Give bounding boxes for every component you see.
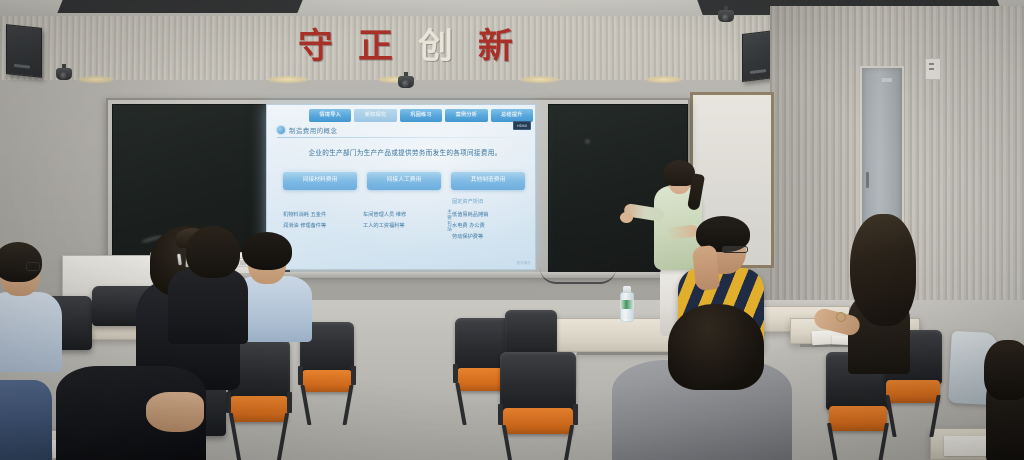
- downlight-5: [646, 76, 682, 83]
- teacher-hair: [664, 160, 695, 186]
- detail-3-line-1: 低值易耗品摊销: [452, 210, 529, 221]
- motto-char-4: 新: [478, 29, 513, 64]
- student-long-hair-right-hair: [850, 214, 916, 326]
- ptz-camera-left: [56, 64, 72, 84]
- bullet-icon: [277, 126, 285, 134]
- classroom-scene: 守 正 创 新: [0, 0, 1024, 460]
- hdmi-cable: [540, 268, 616, 284]
- detail-2-line-2: 工人的工资福利等: [363, 221, 437, 232]
- detail-2-line-1: 车间管理人员 维修: [363, 210, 437, 221]
- slide-body-text: 企业的生产部门为生产产品或提供劳务而发生的各项间接费用。: [289, 147, 521, 157]
- projected-slide: 情境导入 新知探究 巩固练习 案例分析 总结提升 HDMI 制造费用的概念 企业…: [266, 104, 536, 270]
- student-dark-top-back-torso: [168, 268, 248, 344]
- slide-heading-text: 制造费用的概念: [289, 125, 337, 135]
- wall-speaker-left: [6, 24, 42, 78]
- ptz-camera-right: [718, 6, 734, 26]
- slide-category-boxes: 间接材料费用 间接人工费用 其他制造费用: [283, 171, 525, 191]
- glasses-icon: [722, 246, 748, 253]
- slide-tab-1[interactable]: 情境导入: [309, 109, 351, 122]
- slide-watermark: 教学课件: [517, 261, 531, 266]
- glasses-icon-left: [26, 262, 40, 271]
- detail-3-title: 固定资产折旧: [452, 197, 529, 208]
- motto-char-2: 正: [358, 29, 393, 64]
- detail-column-1: . 机物料消耗 五金件 润滑油 修理备件等: [283, 197, 357, 261]
- downlight-2: [268, 76, 308, 83]
- downlight-1: [78, 76, 114, 83]
- wall-motto: 守 正 创 新: [298, 24, 513, 68]
- downlight-4: [520, 76, 560, 83]
- detail-1-line-1: 机物料消耗 五金件: [283, 210, 357, 221]
- detail-3-line-2: 水电费 办公费: [452, 221, 529, 232]
- hdmi-osd-badge: HDMI: [513, 121, 531, 130]
- detail-column-2: . 车间管理人员 维修 工人的工资福利等: [363, 197, 437, 261]
- category-box-2: 间接人工费用: [367, 171, 441, 190]
- slide-tab-4[interactable]: 案例分析: [445, 109, 487, 122]
- category-box-1: 间接材料费用: [283, 171, 357, 190]
- slide-detail-columns: . 机物料消耗 五金件 润滑油 修理备件等 . 车间管理人员 维修 工人的工资福…: [283, 197, 529, 261]
- motto-char-3: 创: [418, 29, 453, 64]
- student-right-edge-hair: [984, 340, 1024, 400]
- category-box-3: 其他制造费用: [451, 171, 525, 190]
- detail-3-line-3: 劳动保护费等: [452, 232, 529, 243]
- motto-char-1: 守: [298, 29, 333, 64]
- student-blue-shirt-left-torso: [0, 292, 62, 372]
- slide-tab-2[interactable]: 新知探究: [354, 109, 396, 122]
- slide-nav-tabs: 情境导入 新知探究 巩固练习 案例分析 总结提升: [309, 109, 533, 122]
- water-bottle[interactable]: [620, 284, 634, 322]
- student-striped-polo-arm: [692, 245, 720, 291]
- ptz-camera-center: [398, 72, 414, 92]
- chair-empty-5[interactable]: [500, 352, 576, 460]
- student-grey-tee-front-hair: [668, 304, 764, 390]
- wristwatch-icon: [836, 312, 846, 322]
- slide-heading-rule: [277, 137, 527, 138]
- detail-column-3: 主要包括 固定资产折旧 低值易耗品摊销 水电费 办公费 劳动保护费等: [443, 197, 529, 261]
- slide-heading: 制造费用的概念: [277, 125, 337, 135]
- wall-control-panel[interactable]: [925, 58, 941, 80]
- slide-tab-3[interactable]: 巩固练习: [400, 109, 442, 122]
- ceiling-beam-left: [57, 0, 302, 13]
- student-black-tee-front-arm: [146, 392, 204, 432]
- door-handle[interactable]: [866, 172, 869, 188]
- teacher-hand: [620, 212, 633, 223]
- detail-3-vertical-label: 主要包括: [443, 209, 454, 232]
- student-blue-shirt-center-hair: [242, 232, 292, 270]
- student-dark-top-back-hair: [186, 226, 240, 278]
- detail-1-line-2: 润滑油 修理备件等: [283, 221, 357, 232]
- door-plate: [882, 78, 892, 82]
- student-denim-bottom-left-torso: [0, 380, 52, 460]
